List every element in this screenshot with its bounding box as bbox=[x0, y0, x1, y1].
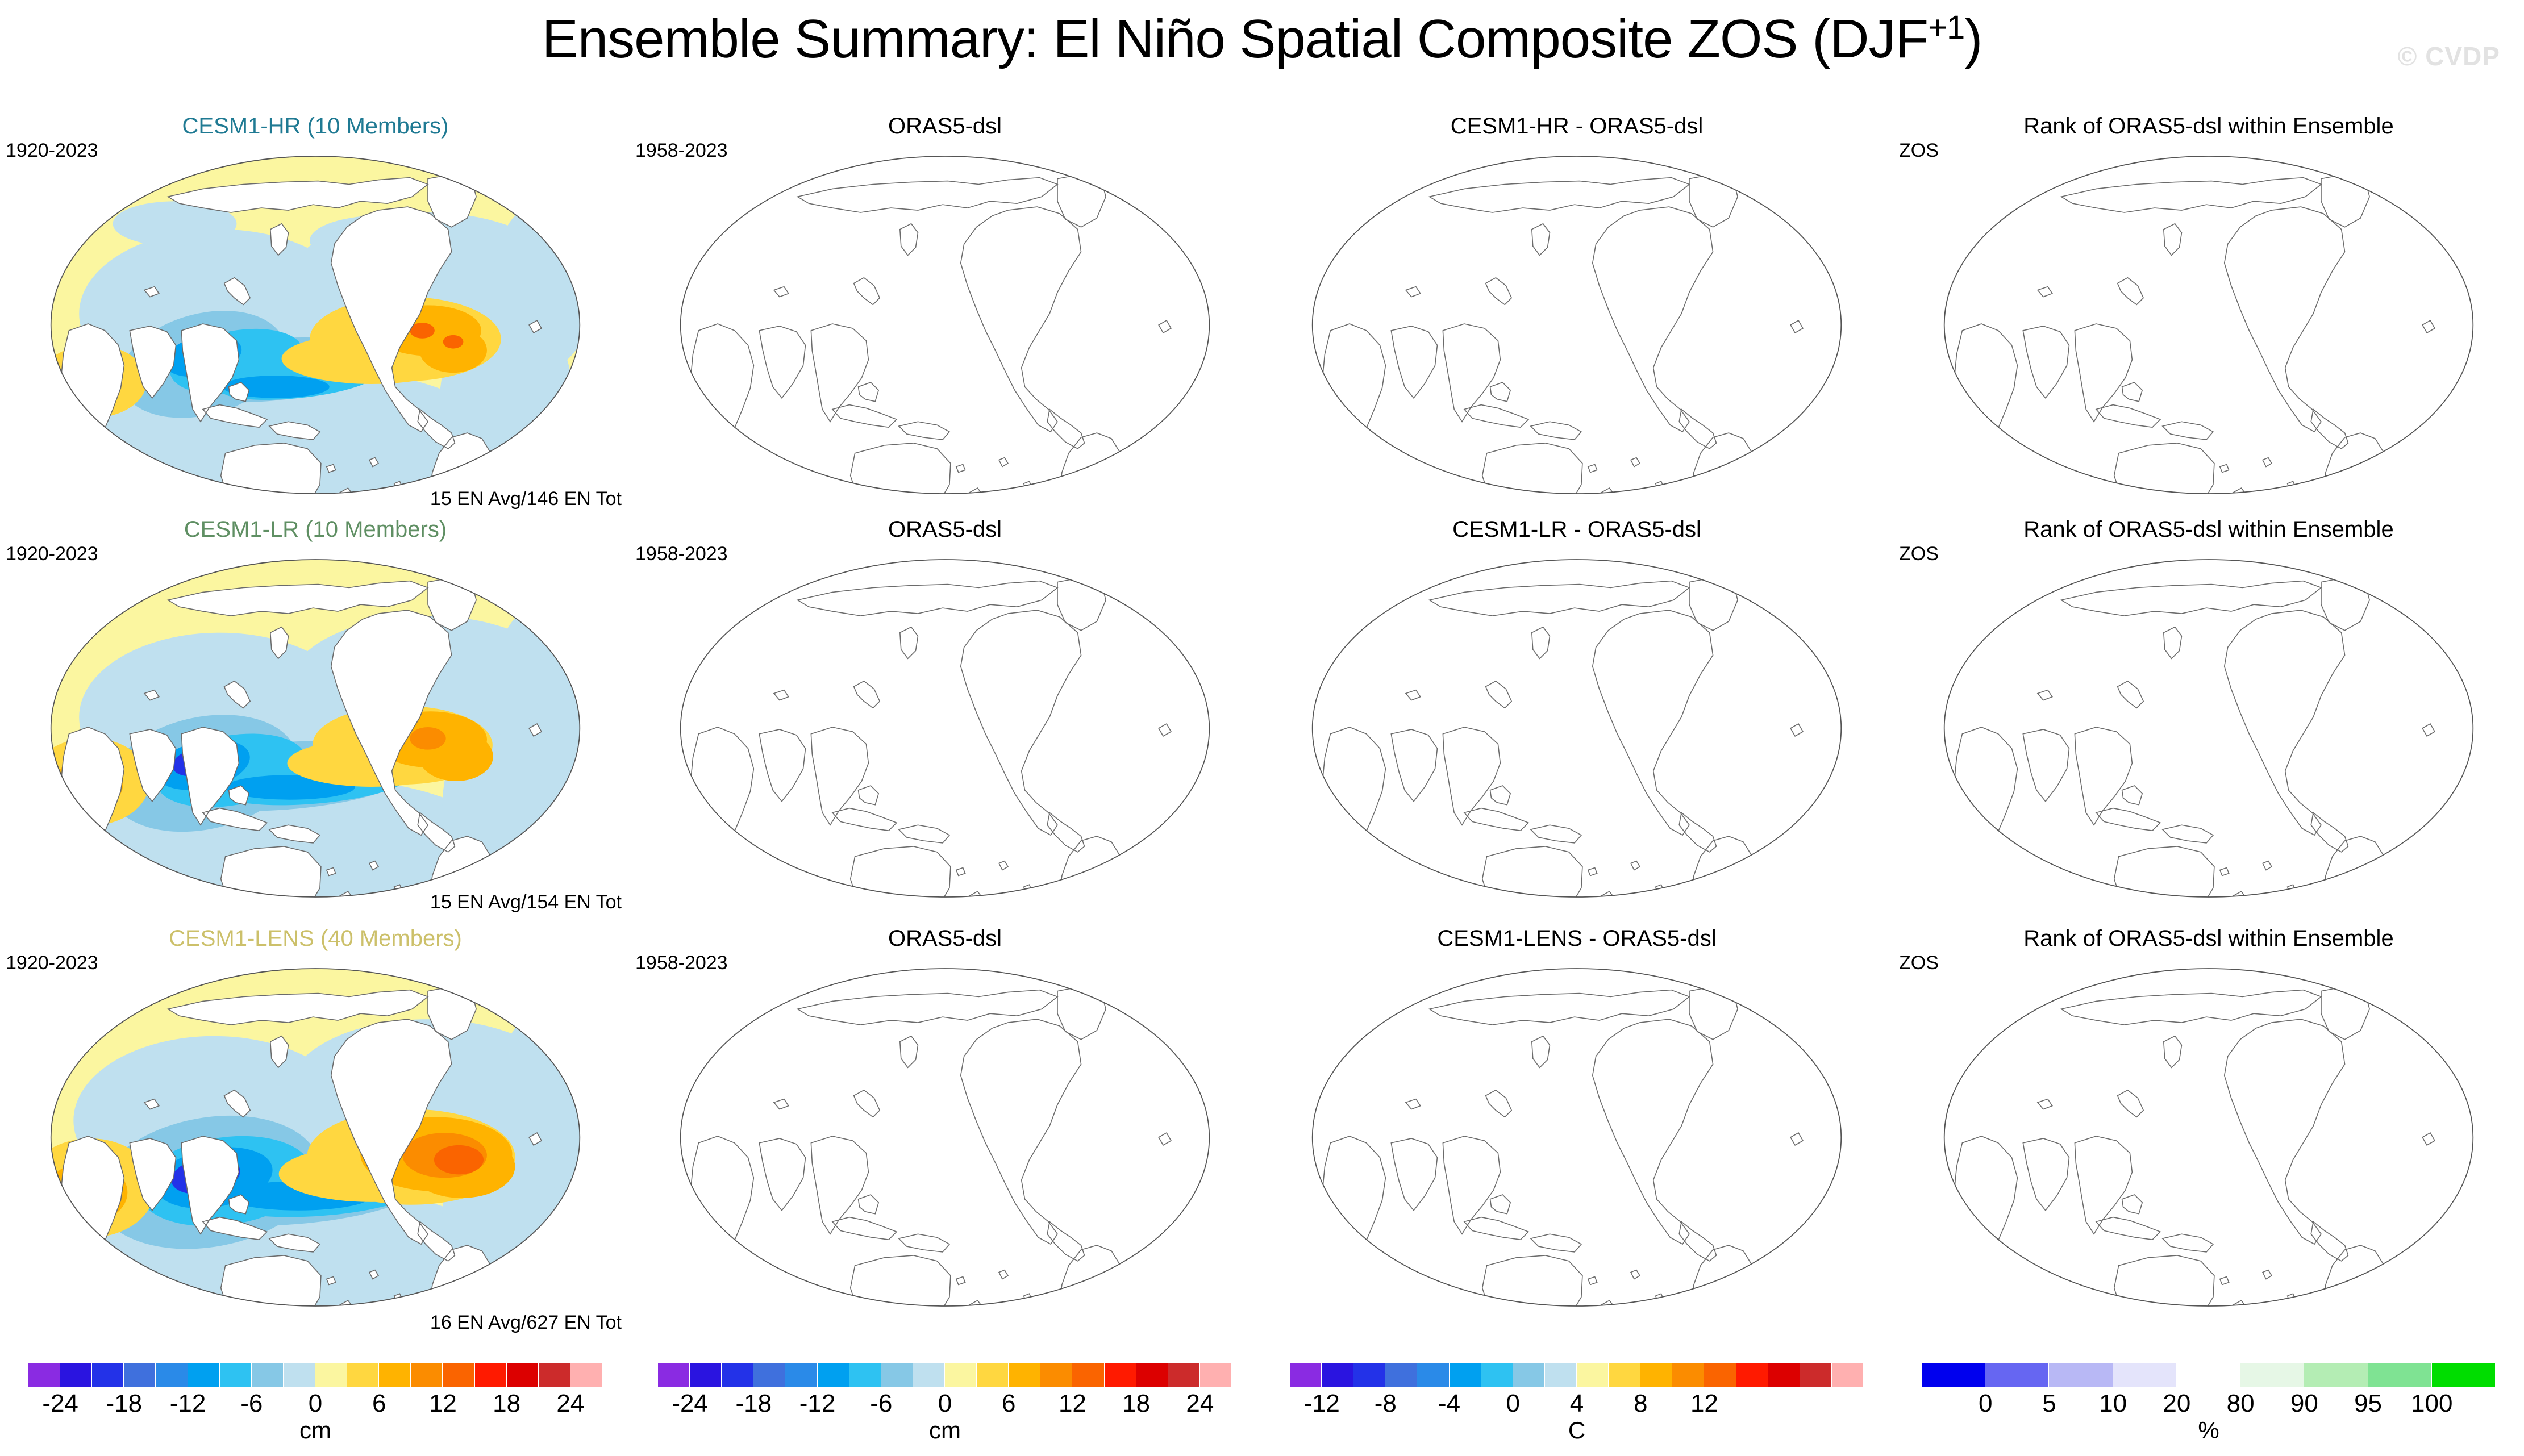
colorbar-tick-label: 6 bbox=[372, 1390, 386, 1418]
colorbar-swatch bbox=[379, 1363, 411, 1387]
colorbar-tick-label: 100 bbox=[2411, 1390, 2452, 1418]
colorbar-swatch bbox=[1290, 1363, 1322, 1387]
colorbar-tick-label: 18 bbox=[1122, 1390, 1150, 1418]
colorbar-unit-label: cm bbox=[28, 1417, 602, 1444]
colorbar-tick-label: 12 bbox=[1690, 1390, 1718, 1418]
map-container[interactable] bbox=[34, 956, 597, 1319]
coastlines bbox=[1951, 987, 2452, 1319]
anomaly-field bbox=[34, 969, 597, 1319]
en-count-note: 15 EN Avg/146 EN Tot bbox=[430, 488, 622, 510]
colorbar-tick-label: -12 bbox=[170, 1390, 206, 1418]
colorbar-swatch bbox=[1481, 1363, 1513, 1387]
colorbar-tick-label: 0 bbox=[1979, 1390, 1992, 1418]
colorbar-swatch bbox=[1545, 1363, 1577, 1387]
page-title: Ensemble Summary: El Niño Spatial Compos… bbox=[0, 8, 2524, 70]
map-panel-lr-col2: ORAS5-dsl1958-2023 bbox=[635, 517, 1255, 915]
colorbar-ticks: -24-18-12-606121824 bbox=[658, 1387, 1232, 1420]
world-map bbox=[1296, 143, 1858, 507]
colorbar-tick-label: 0 bbox=[309, 1390, 322, 1418]
colorbar-swatches bbox=[1922, 1363, 2496, 1387]
panel-title: CESM1-HR - ORAS5-dsl bbox=[1267, 114, 1886, 139]
colorbar-ticks: -12-8-404812 bbox=[1290, 1387, 1864, 1420]
colorbar-tick-label: 80 bbox=[2227, 1390, 2255, 1418]
panel-title: Rank of ORAS5-dsl within Ensemble bbox=[1899, 517, 2518, 543]
panel-title: CESM1-HR (10 Members) bbox=[6, 114, 625, 139]
cvdp-watermark: © CVDP bbox=[2398, 41, 2500, 72]
colorbar-tick-label: -6 bbox=[870, 1390, 892, 1418]
colorbar-tick-label: -8 bbox=[1375, 1390, 1397, 1418]
colorbar-tick-label: -18 bbox=[736, 1390, 772, 1418]
colorbar-unit-label: % bbox=[1922, 1417, 2496, 1444]
colorbar-swatch bbox=[1672, 1363, 1704, 1387]
coastlines bbox=[688, 578, 1188, 910]
colorbar-swatch bbox=[977, 1363, 1009, 1387]
colorbar-swatch bbox=[1136, 1363, 1168, 1387]
colorbar-tick-label: 4 bbox=[1570, 1390, 1584, 1418]
colorbar-swatch bbox=[92, 1363, 124, 1387]
coastlines bbox=[1319, 987, 1820, 1319]
colorbar-swatch bbox=[315, 1363, 347, 1387]
colorbar-swatch bbox=[1736, 1363, 1768, 1387]
colorbar-swatch bbox=[411, 1363, 443, 1387]
map-frame bbox=[1313, 560, 1842, 897]
colorbar-tick-label: 90 bbox=[2290, 1390, 2318, 1418]
world-map bbox=[664, 546, 1226, 910]
colorbar-swatch bbox=[881, 1363, 913, 1387]
colorbar-tick-label: -24 bbox=[42, 1390, 78, 1418]
map-container[interactable] bbox=[1296, 143, 1858, 507]
world-map bbox=[34, 956, 597, 1319]
colorbar-swatch bbox=[570, 1363, 602, 1387]
colorbar-tick-label: 10 bbox=[2099, 1390, 2127, 1418]
world-map bbox=[1927, 546, 2490, 910]
colorbar-swatch bbox=[2432, 1363, 2496, 1387]
world-map bbox=[664, 143, 1226, 507]
map-panel-hr-col3: CESM1-HR - ORAS5-dsl bbox=[1267, 114, 1886, 511]
map-panel-lr-col1: CESM1-LR (10 Members)1920-202315 EN Avg/… bbox=[6, 517, 625, 915]
colorbar-tick-label: -4 bbox=[1438, 1390, 1460, 1418]
coastlines bbox=[1951, 174, 2452, 507]
map-panel-lens-col1: CESM1-LENS (40 Members)1920-202316 EN Av… bbox=[6, 926, 625, 1335]
colorbar-swatch bbox=[913, 1363, 945, 1387]
map-frame bbox=[1944, 969, 2473, 1306]
map-container[interactable] bbox=[1927, 956, 2490, 1319]
map-frame bbox=[681, 969, 1210, 1306]
colorbar-swatch bbox=[539, 1363, 570, 1387]
map-panel-hr-col2: ORAS5-dsl1958-2023 bbox=[635, 114, 1255, 511]
colorbar-swatch bbox=[1640, 1363, 1672, 1387]
map-container[interactable] bbox=[1927, 546, 2490, 910]
coastlines bbox=[688, 987, 1188, 1319]
colorbar-swatch bbox=[28, 1363, 60, 1387]
map-panel-hr-col4: Rank of ORAS5-dsl within EnsembleZOS bbox=[1899, 114, 2518, 511]
map-panel-lens-col2: ORAS5-dsl1958-2023 bbox=[635, 926, 1255, 1335]
colorbar-swatch bbox=[347, 1363, 379, 1387]
map-panel-lens-col3: CESM1-LENS - ORAS5-dsl bbox=[1267, 926, 1886, 1335]
panel-title: Rank of ORAS5-dsl within Ensemble bbox=[1899, 114, 2518, 139]
colorbar-swatch bbox=[945, 1363, 977, 1387]
world-map bbox=[34, 546, 597, 910]
map-container[interactable] bbox=[1927, 143, 2490, 507]
colorbar-unit-label: cm bbox=[658, 1417, 1232, 1444]
colorbar-swatch bbox=[2240, 1363, 2304, 1387]
colorbar-swatch bbox=[1417, 1363, 1449, 1387]
colorbar-tick-label: -18 bbox=[106, 1390, 143, 1418]
colorbar-4: 051020809095100% bbox=[1922, 1363, 2496, 1444]
colorbar-swatch bbox=[1513, 1363, 1545, 1387]
world-map bbox=[664, 956, 1226, 1319]
world-map bbox=[1296, 546, 1858, 910]
colorbar-swatch bbox=[1768, 1363, 1800, 1387]
colorbar-swatch bbox=[1577, 1363, 1609, 1387]
colorbar-unit-label: C bbox=[1290, 1417, 1864, 1444]
world-map bbox=[1927, 956, 2490, 1319]
colorbar-swatch bbox=[220, 1363, 252, 1387]
colorbar-swatch bbox=[1832, 1363, 1864, 1387]
map-panel-hr-col1: CESM1-HR (10 Members)1920-202315 EN Avg/… bbox=[6, 114, 625, 511]
colorbar-swatch bbox=[2049, 1363, 2113, 1387]
colorbar-swatch bbox=[124, 1363, 156, 1387]
map-container[interactable] bbox=[664, 546, 1226, 910]
colorbar-2: -24-18-12-606121824cm bbox=[658, 1363, 1232, 1444]
colorbar-ticks: -24-18-12-606121824 bbox=[28, 1387, 602, 1420]
colorbar-swatch bbox=[1922, 1363, 1985, 1387]
colorbar-swatch bbox=[818, 1363, 849, 1387]
map-panel-lr-col4: Rank of ORAS5-dsl within EnsembleZOS bbox=[1899, 517, 2518, 915]
panel-title: ORAS5-dsl bbox=[635, 926, 1255, 952]
colorbar-swatch bbox=[1609, 1363, 1640, 1387]
colorbar-tick-label: 12 bbox=[1059, 1390, 1086, 1418]
coastlines bbox=[1319, 578, 1820, 910]
map-container[interactable] bbox=[664, 143, 1226, 507]
colorbar-swatch bbox=[785, 1363, 817, 1387]
map-container[interactable] bbox=[34, 143, 597, 507]
colorbar-swatch bbox=[2304, 1363, 2368, 1387]
colorbar-swatch bbox=[1009, 1363, 1040, 1387]
colorbar-ticks: 051020809095100 bbox=[1922, 1387, 2496, 1420]
colorbar-swatch bbox=[1168, 1363, 1200, 1387]
colorbar-swatch bbox=[1800, 1363, 1832, 1387]
coastlines bbox=[1951, 578, 2452, 910]
colorbar-swatch bbox=[1353, 1363, 1385, 1387]
colorbar-swatches bbox=[28, 1363, 602, 1387]
map-panel-lr-col3: CESM1-LR - ORAS5-dsl bbox=[1267, 517, 1886, 915]
colorbar-swatch bbox=[188, 1363, 220, 1387]
colorbar-tick-label: 24 bbox=[556, 1390, 584, 1418]
colorbar-tick-label: 6 bbox=[1002, 1390, 1015, 1418]
world-map bbox=[34, 143, 597, 507]
colorbar-1: -24-18-12-606121824cm bbox=[28, 1363, 602, 1444]
colorbar-3: -12-8-404812C bbox=[1290, 1363, 1864, 1444]
map-container[interactable] bbox=[1296, 546, 1858, 910]
colorbar-swatch bbox=[1450, 1363, 1481, 1387]
panel-title: CESM1-LR (10 Members) bbox=[6, 517, 625, 543]
colorbar-tick-label: 0 bbox=[938, 1390, 952, 1418]
colorbar-tick-label: 95 bbox=[2354, 1390, 2382, 1418]
map-frame bbox=[681, 156, 1210, 494]
colorbar-swatch bbox=[252, 1363, 284, 1387]
colorbar-tick-label: 5 bbox=[2042, 1390, 2056, 1418]
colorbar-swatch bbox=[60, 1363, 92, 1387]
colorbar-swatch bbox=[1704, 1363, 1736, 1387]
colorbar-swatch bbox=[156, 1363, 188, 1387]
colorbar-tick-label: -12 bbox=[1303, 1390, 1340, 1418]
panel-title: CESM1-LENS (40 Members) bbox=[6, 926, 625, 952]
colorbar-swatch bbox=[722, 1363, 753, 1387]
coastlines bbox=[688, 174, 1188, 507]
colorbar-swatches bbox=[658, 1363, 1232, 1387]
panel-title: CESM1-LENS - ORAS5-dsl bbox=[1267, 926, 1886, 952]
en-count-note: 15 EN Avg/154 EN Tot bbox=[430, 891, 622, 913]
map-container[interactable] bbox=[1296, 956, 1858, 1319]
en-count-note: 16 EN Avg/627 EN Tot bbox=[430, 1312, 622, 1334]
panel-title: Rank of ORAS5-dsl within Ensemble bbox=[1899, 926, 2518, 952]
colorbar-swatch bbox=[475, 1363, 507, 1387]
colorbar-swatch bbox=[2368, 1363, 2432, 1387]
coastlines bbox=[1319, 174, 1820, 507]
colorbar-tick-label: -24 bbox=[672, 1390, 708, 1418]
colorbar-swatch bbox=[849, 1363, 881, 1387]
panel-title: ORAS5-dsl bbox=[635, 517, 1255, 543]
colorbar-swatch bbox=[1322, 1363, 1353, 1387]
colorbar-swatch bbox=[1105, 1363, 1136, 1387]
colorbar-tick-label: 12 bbox=[429, 1390, 457, 1418]
map-frame bbox=[1313, 156, 1842, 494]
colorbar-tick-label: 8 bbox=[1634, 1390, 1647, 1418]
world-map bbox=[1927, 143, 2490, 507]
colorbar-tick-label: -6 bbox=[240, 1390, 263, 1418]
map-panel-lens-col4: Rank of ORAS5-dsl within EnsembleZOS bbox=[1899, 926, 2518, 1335]
colorbar-swatch bbox=[443, 1363, 474, 1387]
colorbar-swatch bbox=[753, 1363, 785, 1387]
colorbar-swatch bbox=[1200, 1363, 1232, 1387]
colorbar-swatch bbox=[2113, 1363, 2177, 1387]
colorbar-swatch bbox=[1985, 1363, 2049, 1387]
colorbar-tick-label: 20 bbox=[2163, 1390, 2190, 1418]
panel-title: ORAS5-dsl bbox=[635, 114, 1255, 139]
colorbar-swatch bbox=[507, 1363, 539, 1387]
map-frame bbox=[1313, 969, 1842, 1306]
map-container[interactable] bbox=[664, 956, 1226, 1319]
colorbar-swatch bbox=[1385, 1363, 1417, 1387]
anomaly-field bbox=[34, 560, 597, 910]
map-frame bbox=[1944, 560, 2473, 897]
page-title-superscript: +1 bbox=[1928, 9, 1964, 46]
page-title-close: ) bbox=[1964, 9, 1982, 69]
panel-title: CESM1-LR - ORAS5-dsl bbox=[1267, 517, 1886, 543]
colorbar-tick-label: 18 bbox=[493, 1390, 520, 1418]
colorbar-swatch bbox=[2177, 1363, 2240, 1387]
colorbar-swatch bbox=[690, 1363, 722, 1387]
world-map bbox=[1296, 956, 1858, 1319]
map-frame bbox=[1944, 156, 2473, 494]
colorbar-swatch bbox=[284, 1363, 315, 1387]
colorbar-swatches bbox=[1290, 1363, 1864, 1387]
colorbar-tick-label: -12 bbox=[799, 1390, 836, 1418]
colorbar-swatch bbox=[658, 1363, 690, 1387]
map-container[interactable] bbox=[34, 546, 597, 910]
colorbar-swatch bbox=[1072, 1363, 1104, 1387]
colorbar-tick-label: 24 bbox=[1186, 1390, 1214, 1418]
colorbar-tick-label: 0 bbox=[1506, 1390, 1520, 1418]
map-frame bbox=[681, 560, 1210, 897]
colorbar-swatch bbox=[1040, 1363, 1072, 1387]
page-title-main: Ensemble Summary: El Niño Spatial Compos… bbox=[542, 9, 1928, 69]
